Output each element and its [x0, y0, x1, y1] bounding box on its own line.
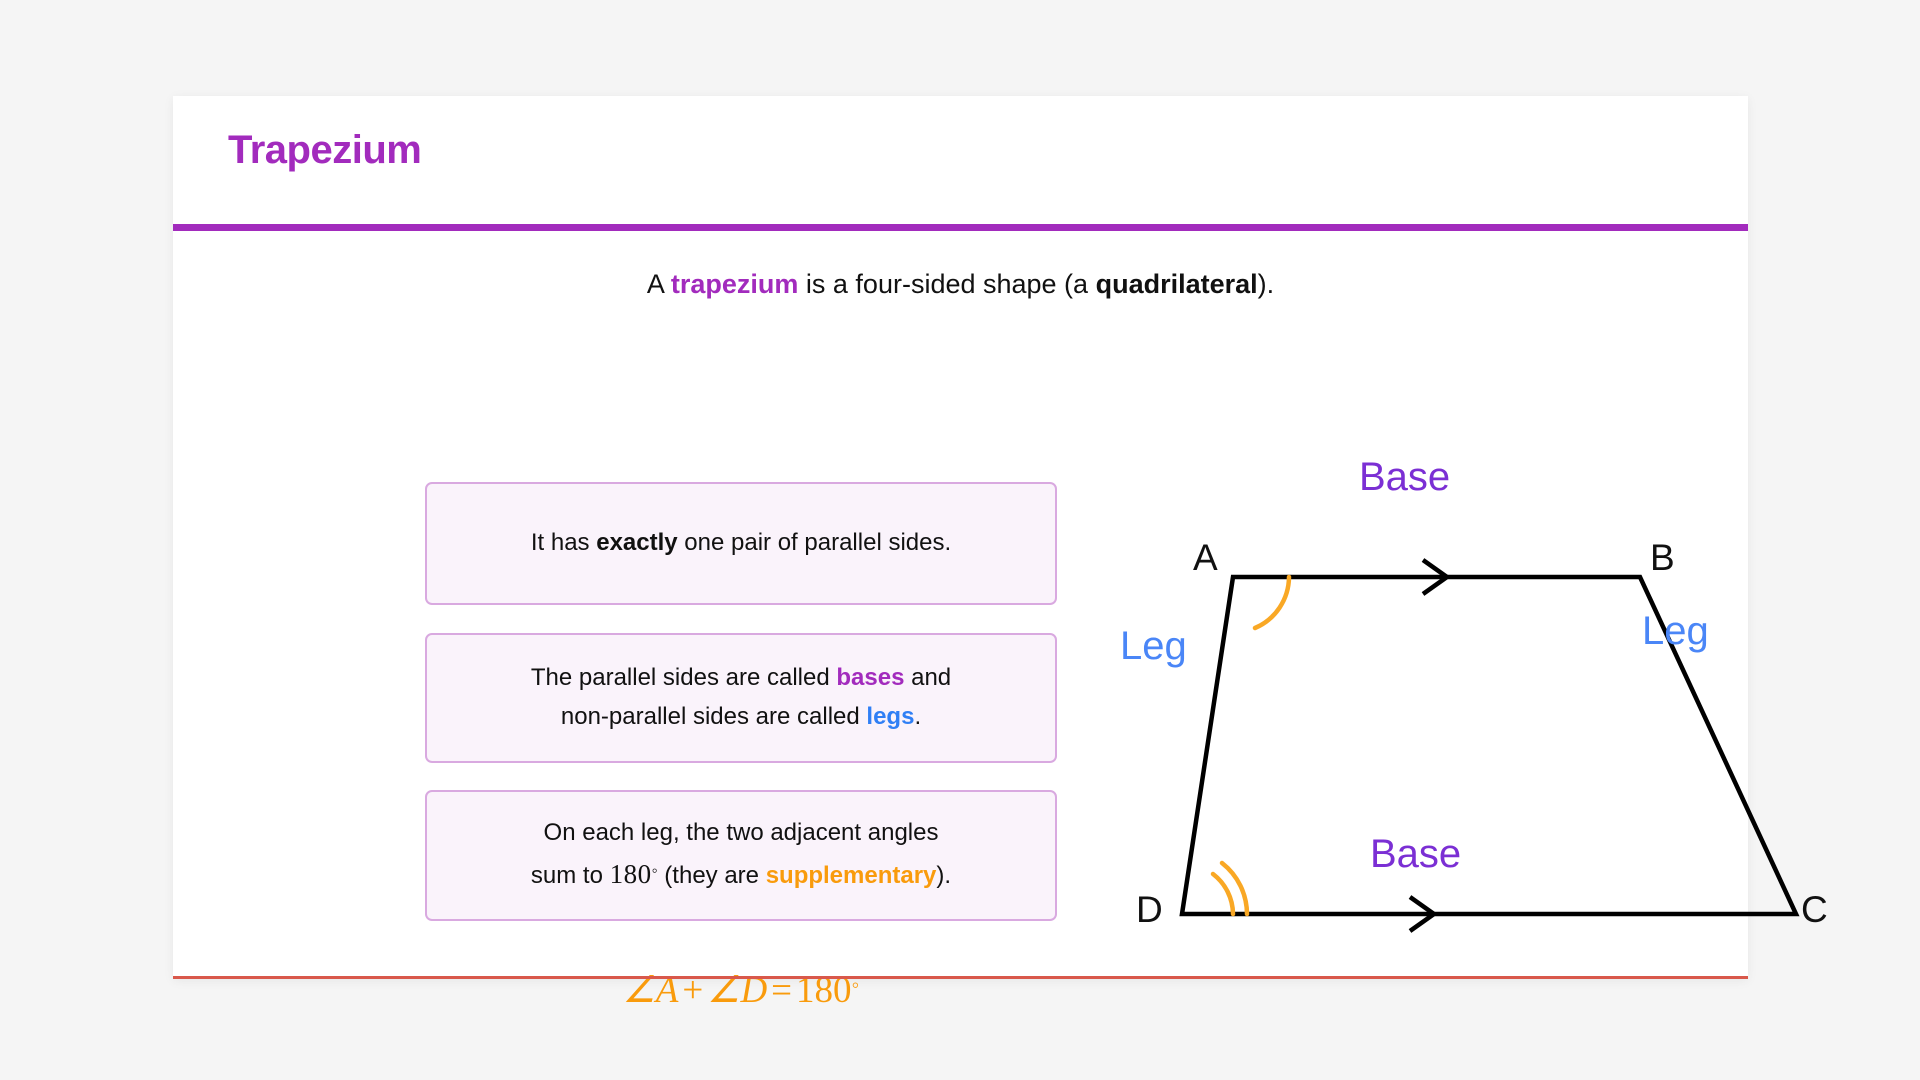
intro-sentence: A trapezium is a four-sided shape (a qua… — [173, 266, 1748, 304]
fact-exactly-one-pair: It has exactly one pair of parallel side… — [425, 482, 1057, 605]
intro-keyword-quadrilateral: quadrilateral — [1096, 269, 1258, 299]
side-label-base-bottom: Base — [1370, 834, 1461, 874]
fact-text: It has exactly one pair of parallel side… — [445, 524, 1037, 563]
supplementary-equation: ∠A+∠D=180◦ — [425, 968, 1057, 1012]
intro-keyword-trapezium: trapezium — [671, 269, 799, 299]
card-bottom-accent — [173, 976, 1748, 979]
vertex-label-c: C — [1801, 891, 1828, 928]
fact-box-list: It has exactly one pair of parallel side… — [425, 482, 1057, 921]
side-label-leg-left: Leg — [1120, 626, 1187, 666]
lesson-card: Trapezium A trapezium is a four-sided sh… — [173, 96, 1748, 979]
trapezium-svg — [1057, 456, 1897, 1076]
vertex-label-a: A — [1193, 539, 1218, 576]
side-label-leg-right: Leg — [1642, 611, 1709, 651]
card-header: Trapezium — [173, 96, 1748, 228]
header-divider — [173, 224, 1748, 231]
vertex-label-b: B — [1650, 539, 1675, 576]
side-label-base-top: Base — [1359, 457, 1450, 497]
intro-middle: is a four-sided shape (a — [798, 269, 1095, 299]
fact-text: The parallel sides are called bases andn… — [445, 659, 1037, 737]
trapezium-figure: A B C D Base Base Leg Leg — [1057, 456, 1897, 1076]
fact-bases-and-legs: The parallel sides are called bases andn… — [425, 633, 1057, 763]
vertex-label-d: D — [1136, 891, 1163, 928]
intro-prefix: A — [647, 269, 671, 299]
fact-supplementary-angles: On each leg, the two adjacent anglessum … — [425, 790, 1057, 921]
intro-suffix: ). — [1258, 269, 1275, 299]
page-title: Trapezium — [228, 128, 421, 173]
angle-arc-d-inner-icon — [1213, 874, 1233, 914]
fact-text: On each leg, the two adjacent anglessum … — [445, 814, 1037, 897]
angle-arc-a-icon — [1255, 577, 1289, 628]
